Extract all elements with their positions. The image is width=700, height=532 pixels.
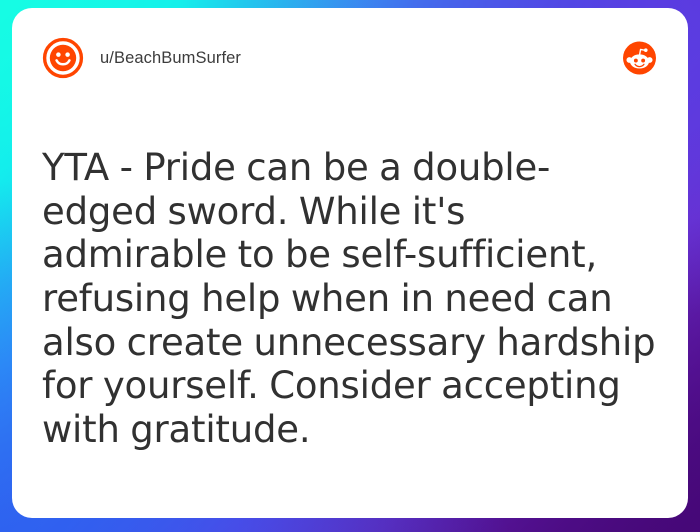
reddit-snoo-icon[interactable] [623, 42, 656, 75]
post-body-text: YTA - Pride can be a double-edged sword.… [42, 146, 658, 452]
post-username[interactable]: u/BeachBumSurfer [100, 49, 241, 68]
post-header: u/BeachBumSurfer [42, 36, 658, 80]
screenshot-stage: u/BeachBumSurfer YTA - Pride can be a do… [0, 0, 700, 532]
reddit-post-card: u/BeachBumSurfer YTA - Pride can be a do… [12, 8, 688, 518]
smiley-face-avatar-icon[interactable] [42, 37, 84, 79]
